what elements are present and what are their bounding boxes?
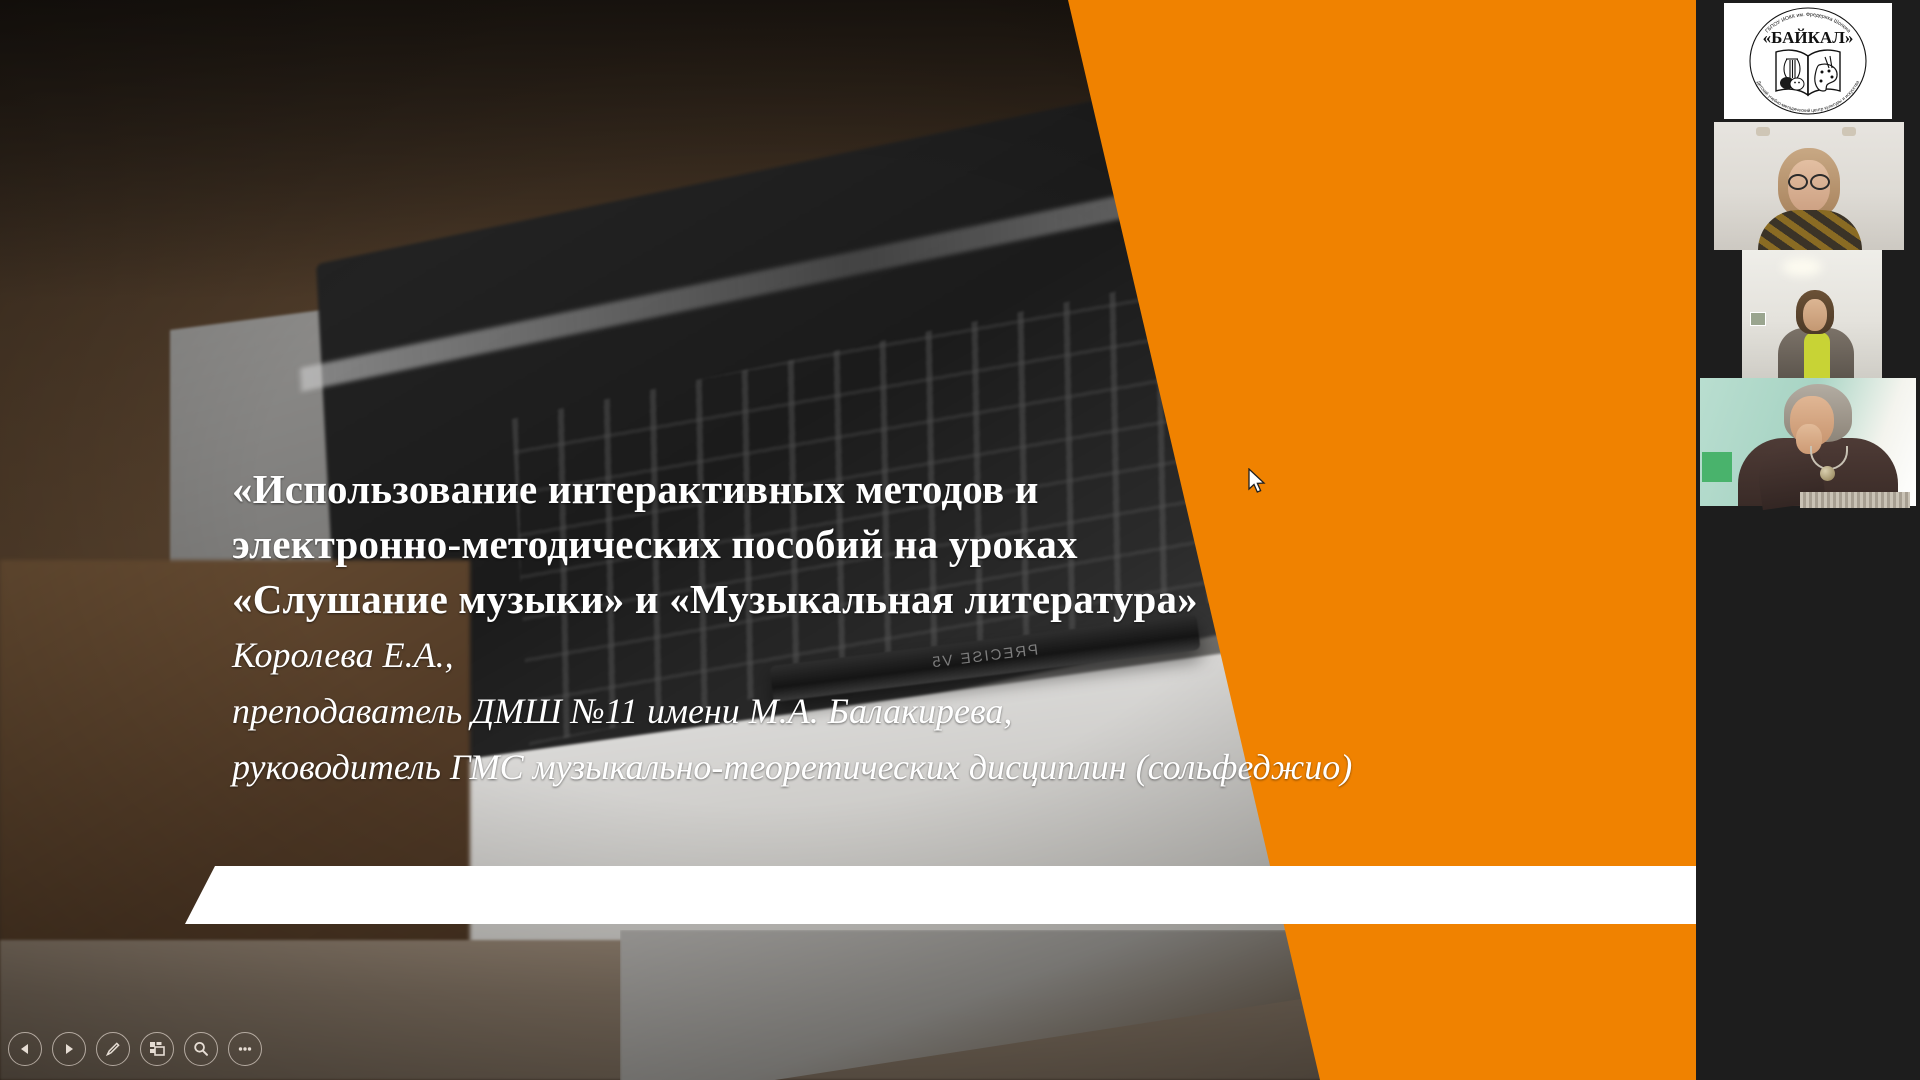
participant-video-1 — [1696, 122, 1920, 250]
baikal-logo: ГБПОУ ИОКК им. Фредерика Шопена Детский … — [1724, 3, 1892, 119]
green-chair — [1702, 452, 1732, 482]
zoom-button[interactable] — [184, 1032, 218, 1066]
screen-share-presentation: PRECISE V5 «Использование интерактивных … — [0, 0, 1920, 1080]
slide-canvas[interactable]: PRECISE V5 «Использование интерактивных … — [0, 0, 1696, 1080]
slide-text-block: «Использование интерактивных методов и э… — [232, 462, 1562, 795]
presentation-toolbar[interactable] — [8, 1032, 262, 1066]
organization-logo-tile[interactable]: ГБПОУ ИОКК им. Фредерика Шопена Детский … — [1696, 0, 1920, 122]
slide-author-line-1: Королева Е.А., — [232, 627, 1562, 683]
mouse-cursor-icon — [1248, 468, 1268, 496]
slide-author-line-3: руководитель ГМС музыкально-теоретически… — [232, 739, 1562, 795]
slide-overview-button[interactable] — [140, 1032, 174, 1066]
slide-author-line-2: преподаватель ДМШ №11 имени М.А. Балакир… — [232, 683, 1562, 739]
participant-video-3 — [1696, 378, 1920, 523]
slide-title-line-1: «Использование интерактивных методов и — [232, 462, 1562, 517]
wall-lamp-right — [1842, 127, 1856, 136]
slide-title-line-3: «Слушание музыки» и «Музыкальная литерат… — [232, 572, 1562, 627]
necklace-pendant — [1820, 466, 1835, 481]
desk-keyboard — [1800, 492, 1910, 508]
white-banner-band — [0, 866, 1696, 924]
participant-video-2 — [1696, 250, 1920, 378]
eyeglasses-icon — [1788, 174, 1830, 186]
participant-tile-1[interactable] — [1696, 122, 1920, 250]
participant-tile-2[interactable] — [1696, 250, 1920, 378]
logo-center-text: «БАЙКАЛ» — [1763, 28, 1854, 47]
pen-annotation-button[interactable] — [96, 1032, 130, 1066]
slide-title-line-2: электронно-методических пособий на урока… — [232, 517, 1562, 572]
wall-lamp-left — [1756, 127, 1770, 136]
more-options-button[interactable] — [228, 1032, 262, 1066]
participant-tile-3[interactable] — [1696, 378, 1920, 523]
participants-panel[interactable]: ГБПОУ ИОКК им. Фредерика Шопена Детский … — [1696, 0, 1920, 1080]
next-slide-button[interactable] — [52, 1032, 86, 1066]
wall-picture — [1750, 312, 1766, 326]
ceiling-light — [1782, 258, 1822, 276]
theater-masks-icon — [1780, 77, 1804, 90]
previous-slide-button[interactable] — [8, 1032, 42, 1066]
